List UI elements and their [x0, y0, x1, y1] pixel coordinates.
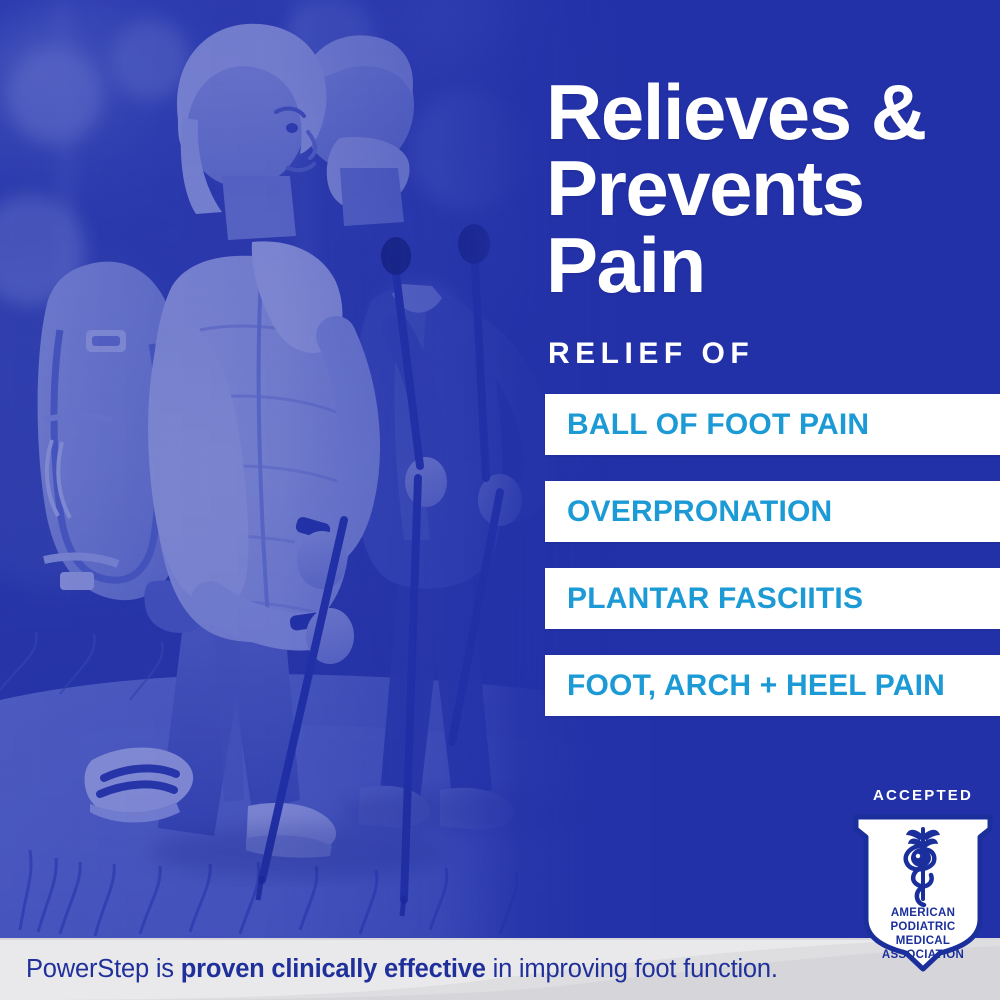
apma-seal: ACCEPTED [852, 787, 994, 972]
footer-bar: PowerStep is proven clinically effective… [0, 938, 1000, 1000]
apma-line-3: MEDICAL [852, 934, 994, 948]
apma-line-2: PODIATRIC [852, 920, 994, 934]
apma-name-lines: AMERICAN PODIATRIC MEDICAL ASSOCIATION [852, 906, 994, 962]
relief-list: BALL OF FOOT PAIN OVERPRONATION PLANTAR … [545, 394, 1000, 716]
headline-line-1: Relieves & [546, 68, 926, 156]
apma-shield: AMERICAN PODIATRIC MEDICAL ASSOCIATION [852, 811, 994, 972]
relief-list-item: PLANTAR FASCIITIS [545, 568, 1000, 629]
relief-item-label: BALL OF FOOT PAIN [567, 408, 869, 442]
relief-list-item: OVERPRONATION [545, 481, 1000, 542]
footer-text-part-2: in improving foot function. [486, 955, 778, 984]
headline-line-2: Prevents Pain [546, 150, 976, 303]
relief-list-item: BALL OF FOOT PAIN [545, 394, 1000, 455]
relief-item-label: FOOT, ARCH + HEEL PAIN [567, 669, 945, 703]
relief-item-label: OVERPRONATION [567, 495, 832, 529]
relief-item-label: PLANTAR FASCIITIS [567, 582, 863, 616]
relief-of-label: RELIEF OF [548, 337, 754, 371]
apma-line-4: ASSOCIATION [852, 948, 994, 962]
footer-text-part-1: PowerStep is [26, 955, 181, 984]
promo-poster: Relieves & Prevents Pain RELIEF OF BALL … [0, 0, 1000, 1000]
apma-line-1: AMERICAN [852, 906, 994, 920]
footer-text-bold: proven clinically effective [181, 955, 486, 984]
apma-accepted-label: ACCEPTED [852, 787, 994, 804]
page-title: Relieves & Prevents Pain [546, 74, 976, 303]
footer-tagline: PowerStep is proven clinically effective… [26, 938, 778, 1000]
relief-list-item: FOOT, ARCH + HEEL PAIN [545, 655, 1000, 716]
